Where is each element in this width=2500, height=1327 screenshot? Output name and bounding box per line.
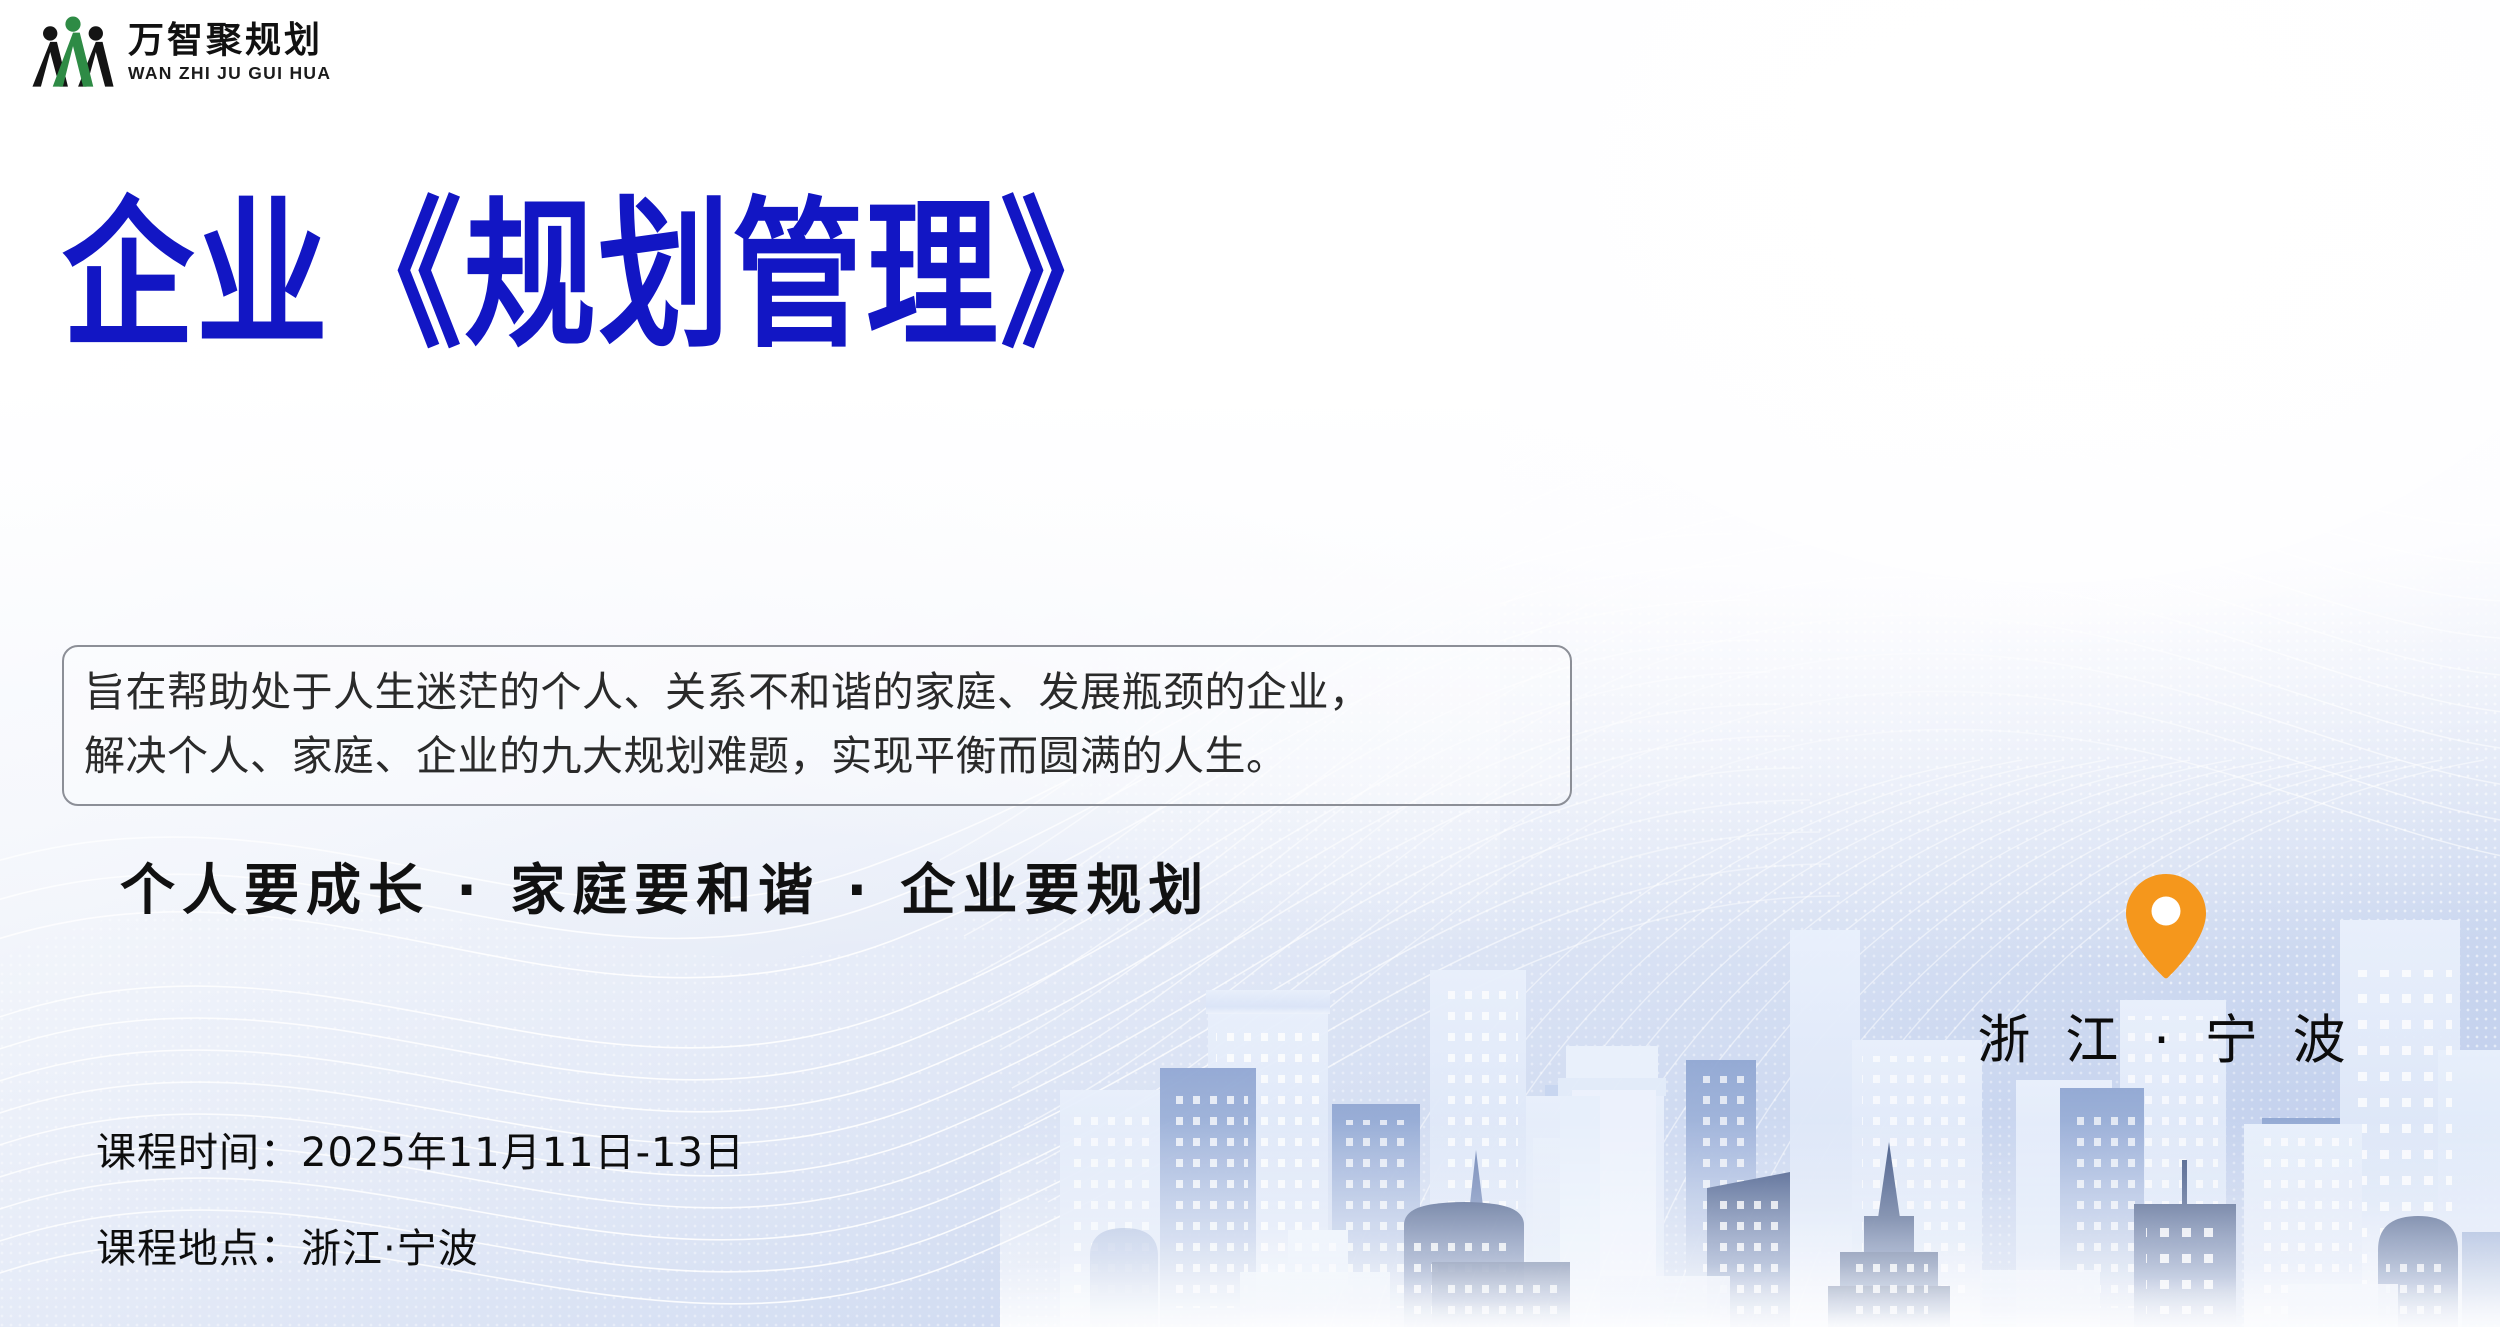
three-people-logo-icon bbox=[30, 14, 116, 90]
background-glow-top-right bbox=[1400, 0, 2500, 637]
brand-name-en: WAN ZHI JU GUI HUA bbox=[128, 65, 331, 83]
brand-name-cn: 万智聚规划 bbox=[128, 22, 331, 58]
course-place: 课程地点：浙江·宁波 bbox=[96, 1216, 745, 1274]
course-time: 课程时间：2025年11月11日-13日 bbox=[96, 1120, 745, 1178]
slogan-text: 个人要成长 · 家庭要和谐 · 企业要规划 bbox=[120, 845, 1210, 925]
hero-title-block: 企业《规划管理》 企业《规划管理》 bbox=[62, 196, 1134, 328]
brand-logo[interactable]: 万智聚规划 WAN ZHI JU GUI HUA bbox=[30, 14, 331, 90]
page-title: 企业《规划管理》 bbox=[62, 196, 1134, 357]
description-line-2: 解决个人、家庭、企业的九大规划难题，实现平衡而圆满的人生。 bbox=[84, 725, 1548, 789]
map-pin-icon bbox=[2124, 872, 2208, 980]
brand-logo-text: 万智聚规划 WAN ZHI JU GUI HUA bbox=[128, 22, 331, 83]
course-info-block: 课程时间：2025年11月11日-13日 课程地点：浙江·宁波 bbox=[96, 1120, 745, 1274]
description-box: 旨在帮助处于人生迷茫的个人、关系不和谐的家庭、发展瓶颈的企业， 解决个人、家庭、… bbox=[62, 645, 1572, 806]
description-line-1: 旨在帮助处于人生迷茫的个人、关系不和谐的家庭、发展瓶颈的企业， bbox=[84, 661, 1548, 725]
location-badge: 浙 江 · 宁 波 bbox=[1956, 872, 2376, 1074]
poster-canvas: 万智聚规划 WAN ZHI JU GUI HUA 企业《规划管理》 企业《规划管… bbox=[0, 0, 2500, 1327]
location-label: 浙 江 · 宁 波 bbox=[1956, 998, 2376, 1074]
